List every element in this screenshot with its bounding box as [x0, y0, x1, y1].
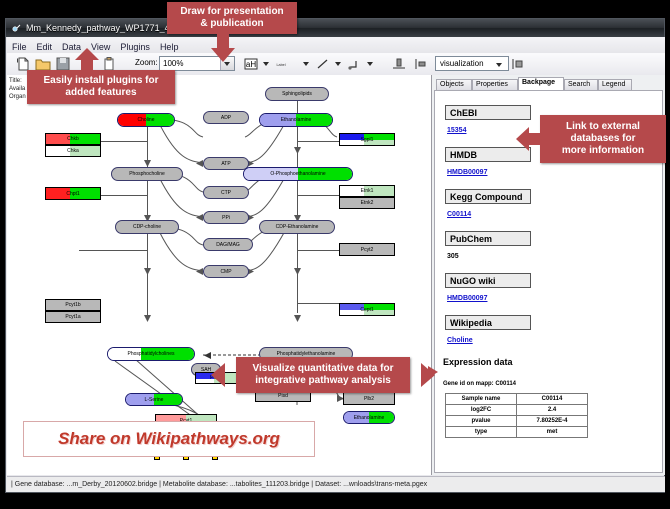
callout-visualize: Visualize quantitative data for integrat…	[236, 357, 410, 393]
gene-box-chpt1[interactable]: Chpt1	[45, 187, 101, 200]
expression-table: Sample name C00114 log2FC 2.4 pvalue 7.8…	[445, 393, 588, 438]
node-ppi[interactable]: PPi	[203, 211, 249, 224]
connector-cept1	[297, 303, 339, 304]
callout-share-text: Share on Wikipathways.org	[58, 429, 280, 449]
db-header-chebi: ChEBI	[445, 105, 531, 120]
callout-draw: Draw for presentation & publication	[167, 2, 297, 34]
cell-key: pvalue	[446, 416, 517, 427]
node-cdp-choline[interactable]: CDP-choline	[115, 220, 179, 234]
visualization-value: visualization	[440, 59, 484, 68]
cell-key: log2FC	[446, 405, 517, 416]
label-tool-menu-icon[interactable]	[303, 62, 309, 66]
svg-text:aH: aH	[246, 60, 256, 69]
label-menu-icon[interactable]	[263, 62, 269, 66]
connector-pcyt1	[79, 250, 147, 251]
gene-box-pcyt1a[interactable]: Pcyt1a	[45, 311, 101, 323]
db-link-nugo-wiki[interactable]: HMDB00097	[447, 295, 487, 302]
gene-id-on-mapp: Gene id on mapp: C00114	[443, 381, 516, 387]
callout-visualize-line2: integrative pathway analysis	[255, 375, 391, 387]
db-link-hmdb[interactable]: HMDB00097	[447, 169, 487, 176]
table-row: Sample name C00114	[446, 394, 588, 405]
node-phosphocholine[interactable]: Phosphocholine	[111, 167, 183, 181]
node-sphingolipids[interactable]: Sphingolipids	[265, 87, 329, 101]
node-choline[interactable]: Choline	[117, 113, 175, 127]
callout-link-arrow-icon	[516, 126, 542, 152]
db-link-chebi[interactable]: 15354	[447, 127, 466, 134]
node-l-serine-left[interactable]: L-Serine	[125, 393, 183, 406]
gene-box-etnk2[interactable]: Etnk2	[339, 197, 395, 209]
canvas-organism-label: Organ	[9, 93, 26, 101]
node-ctp[interactable]: CTP	[203, 186, 249, 199]
node-dag-mag[interactable]: DAG/MAG	[203, 238, 253, 251]
connector-etnk	[297, 195, 339, 196]
callout-visualize-left-arrow-icon	[211, 362, 237, 388]
node-ethanolamine-right[interactable]: Ethanolamine	[343, 411, 395, 424]
node-cmp[interactable]: CMP	[203, 265, 249, 278]
menu-help[interactable]: Help	[155, 40, 184, 52]
spine-right	[297, 101, 298, 313]
canvas-info-labels: Title: Availa Organ	[9, 77, 26, 101]
shape-tool-icon[interactable]	[347, 56, 363, 72]
menu-file[interactable]: File	[7, 40, 32, 52]
status-bar: | Gene database: ...m_Derby_20120602.bri…	[7, 476, 665, 492]
node-phosphatidylcholines[interactable]: Phosphatidylcholines	[107, 347, 195, 361]
callout-plugins-line1: Easily install plugins for	[43, 75, 158, 87]
callout-plugins-arrow-icon	[74, 48, 100, 72]
zoom-label: Zoom:	[135, 58, 158, 67]
app-icon	[12, 23, 22, 33]
line-tool-icon[interactable]	[315, 56, 331, 72]
gene-box-cept1[interactable]: Cept1	[339, 303, 395, 316]
canvas-availability-label: Availa	[9, 85, 26, 93]
panel-tabs: Objects Properties Backpage Search Legen…	[434, 77, 663, 91]
spine-left	[147, 115, 148, 315]
shape-menu-icon[interactable]	[367, 62, 373, 66]
order-icon[interactable]	[509, 56, 525, 72]
callout-link-line1: Link to external	[566, 121, 640, 133]
text-label-icon[interactable]: aH	[243, 56, 259, 72]
db-header-nugo-wiki: NuGO wiki	[445, 273, 531, 288]
callout-visualize-line1: Visualize quantitative data for	[253, 363, 394, 375]
node-o-phosphoethanolamine[interactable]: O-Phosphoethanolamine	[243, 167, 353, 181]
table-row: log2FC 2.4	[446, 405, 588, 416]
pathway-canvas[interactable]: Title: Availa Organ	[7, 75, 432, 475]
db-header-kegg-compound: Kegg Compound	[445, 189, 531, 204]
cell-key: Sample name	[446, 394, 517, 405]
callout-draw-arrow-icon	[208, 33, 238, 63]
callout-link-line2: databases for	[570, 133, 635, 145]
label-tool-icon[interactable]: Label	[273, 56, 289, 72]
canvas-title-label: Title:	[9, 77, 26, 85]
zoom-value: 100%	[163, 59, 183, 68]
cell-value: 2.4	[517, 405, 588, 416]
callout-share: Share on Wikipathways.org	[23, 421, 315, 457]
screenshot-root: Mm_Kennedy_pathway_WP1771_45176.gpml Fil…	[0, 0, 670, 509]
node-ethanolamine[interactable]: Ethanolamine	[259, 113, 333, 127]
gene-box-plb2[interactable]: Plb2	[343, 392, 395, 405]
db-header-pubchem: PubChem	[445, 231, 531, 246]
table-row: pvalue 7.80252E-4	[446, 416, 588, 427]
node-adp[interactable]: ADP	[203, 111, 249, 124]
cell-value: met	[517, 427, 588, 438]
menu-plugins[interactable]: Plugins	[115, 40, 155, 52]
connector-sgpl1	[297, 141, 339, 142]
gene-box-chkb[interactable]: Chkb	[45, 133, 101, 145]
chevron-down-icon	[496, 63, 502, 67]
callout-draw-line2: & publication	[200, 18, 263, 30]
svg-text:Label: Label	[276, 63, 285, 67]
visualization-combo[interactable]: visualization	[435, 56, 509, 71]
callout-draw-line1: Draw for presentation	[180, 6, 283, 18]
gene-box-chka[interactable]: Chka	[45, 145, 101, 157]
cell-value: 7.80252E-4	[517, 416, 588, 427]
db-header-wikipedia: Wikipedia	[445, 315, 531, 330]
node-cdp-ethanolamine[interactable]: CDP-Ethanolamine	[259, 220, 335, 234]
callout-plugins: Easily install plugins for added feature…	[27, 70, 175, 104]
db-link-wikipedia[interactable]: Choline	[447, 337, 473, 344]
menubar: FileEditDataViewPluginsHelp	[7, 37, 665, 54]
callout-plugins-line2: added features	[65, 87, 136, 99]
gene-box-sgpl1[interactable]: Sgpl1	[339, 133, 395, 146]
node-atp[interactable]: ATP	[203, 157, 249, 170]
window-titlebar: Mm_Kennedy_pathway_WP1771_45176.gpml	[6, 19, 664, 37]
gene-box-etnk1[interactable]: Etnk1	[339, 185, 395, 197]
connector-pcyt2	[297, 250, 339, 251]
expression-data-title: Expression data	[443, 357, 513, 367]
gene-box-pcyt2[interactable]: Pcyt2	[339, 243, 395, 256]
callout-link-line3: more information	[562, 145, 644, 157]
db-value-pubchem: 305	[447, 253, 459, 260]
callout-link-databases: Link to external databases for more info…	[540, 115, 666, 163]
cell-key: type	[446, 427, 517, 438]
callout-visualize-right-arrow-icon	[409, 362, 435, 388]
line-menu-icon[interactable]	[335, 62, 341, 66]
menu-edit[interactable]: Edit	[32, 40, 58, 52]
table-row: type met	[446, 427, 588, 438]
align-bottom-icon[interactable]	[391, 56, 407, 72]
tab-backpage[interactable]: Backpage	[518, 77, 564, 91]
align-left-icon[interactable]	[413, 56, 429, 72]
cell-value: C00114	[517, 394, 588, 405]
gene-box-pcyt1b[interactable]: Pcyt1b	[45, 299, 101, 311]
db-link-kegg-compound[interactable]: C00114	[447, 211, 471, 218]
